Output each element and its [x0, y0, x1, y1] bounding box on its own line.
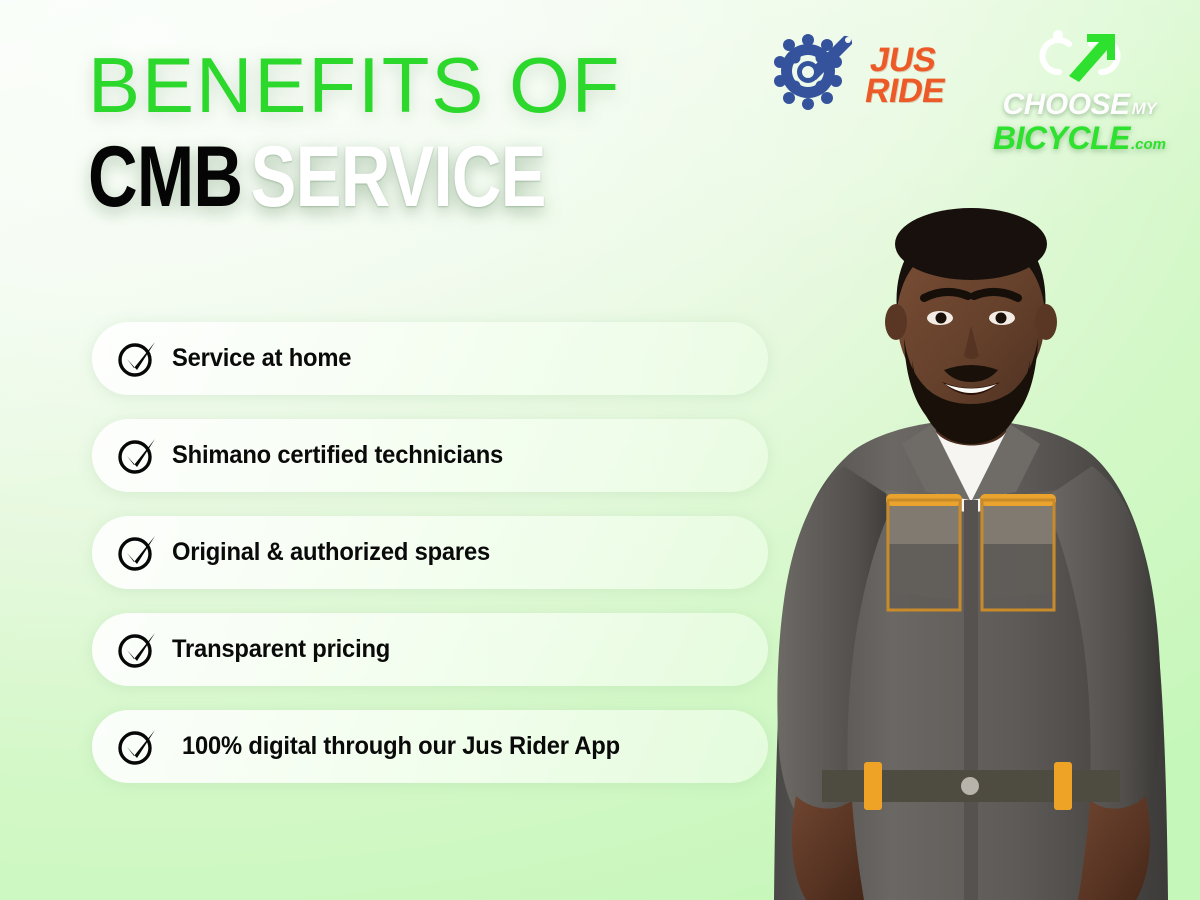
- check-circle-icon: [116, 629, 158, 671]
- check-circle-icon: [116, 338, 158, 380]
- benefit-label: Shimano certified technicians: [172, 441, 503, 470]
- check-circle-icon: [116, 532, 158, 574]
- benefits-list: Service at home Shimano certified techni…: [92, 322, 768, 783]
- benefit-label: 100% digital through our Jus Rider App: [182, 732, 620, 761]
- logo-word-bicycle: BICYCLE: [993, 120, 1130, 157]
- check-circle-icon: [116, 726, 158, 768]
- benefit-pill-original-authorized-spares[interactable]: Original & authorized spares: [92, 516, 768, 589]
- logo-word-dotcom: .com: [1131, 136, 1166, 153]
- jusride-line2: RIDE: [862, 77, 947, 108]
- check-circle-icon: [116, 435, 158, 477]
- benefit-label: Transparent pricing: [172, 635, 390, 664]
- technician-photo: [736, 200, 1200, 900]
- benefit-pill-service-at-home[interactable]: Service at home: [92, 322, 768, 395]
- choosemybicycle-logo[interactable]: CHOOSE MY BICYCLE .com: [993, 24, 1166, 157]
- bicycle-arrow-icon: [1025, 24, 1135, 86]
- title-line-cmb-service: CMBSERVICE: [88, 138, 546, 217]
- benefits-poster: BENEFITS OF CMBSERVICE: [0, 0, 1200, 900]
- jusride-wordmark: JUS RIDE: [862, 45, 952, 108]
- jusride-logo[interactable]: JUS RIDE: [764, 24, 947, 129]
- benefit-pill-100-percent-digital[interactable]: 100% digital through our Jus Rider App: [92, 710, 768, 783]
- benefit-pill-shimano-certified-technicians[interactable]: Shimano certified technicians: [92, 419, 768, 492]
- title-line-benefits-of: BENEFITS OF: [88, 48, 660, 122]
- page-title: BENEFITS OF CMBSERVICE: [88, 48, 660, 217]
- green-arrow-shape: [1069, 34, 1115, 82]
- logo-group: JUS RIDE CHOOSE MY BICYCLE: [764, 24, 1166, 157]
- chainring-crank-icon: [764, 24, 860, 129]
- benefit-label: Service at home: [172, 344, 351, 373]
- choosemybicycle-wordmark-top: CHOOSE MY: [1003, 88, 1157, 122]
- logo-word-my: MY: [1132, 99, 1157, 119]
- benefit-label: Original & authorized spares: [172, 538, 490, 567]
- logo-word-choose: CHOOSE: [1003, 88, 1130, 122]
- benefit-pill-transparent-pricing[interactable]: Transparent pricing: [92, 613, 768, 686]
- title-brand-cmb: CMB: [88, 129, 242, 225]
- choosemybicycle-wordmark-bottom: BICYCLE .com: [993, 120, 1166, 157]
- title-word-service: SERVICE: [251, 129, 546, 225]
